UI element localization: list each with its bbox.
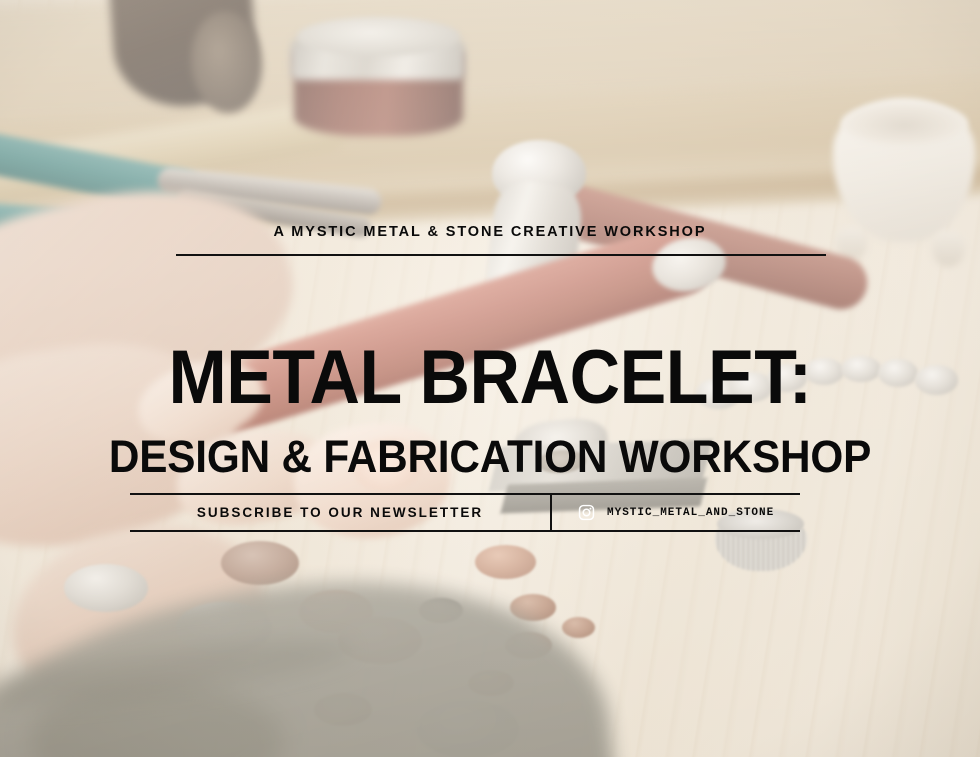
newsletter-subscribe-label[interactable]: SUBSCRIBE TO OUR NEWSLETTER xyxy=(130,493,550,532)
footer-bar: SUBSCRIBE TO OUR NEWSLETTER MYSTIC_METAL… xyxy=(130,493,800,532)
instagram-handle: MYSTIC_METAL_AND_STONE xyxy=(607,507,774,519)
social-handle-group[interactable]: MYSTIC_METAL_AND_STONE xyxy=(554,493,800,532)
footer-vertical-divider xyxy=(550,493,552,532)
text-overlay: A MYSTIC METAL & STONE CREATIVE WORKSHOP… xyxy=(0,0,980,757)
page-title: METAL BRACELET: xyxy=(39,340,941,416)
eyebrow-text: A MYSTIC METAL & STONE CREATIVE WORKSHOP xyxy=(0,224,980,240)
divider-top-rule xyxy=(176,254,826,256)
instagram-icon xyxy=(578,504,595,521)
poster-canvas: A MYSTIC METAL & STONE CREATIVE WORKSHOP… xyxy=(0,0,980,757)
page-subtitle: DESIGN & FABRICATION WORKSHOP xyxy=(29,434,950,479)
